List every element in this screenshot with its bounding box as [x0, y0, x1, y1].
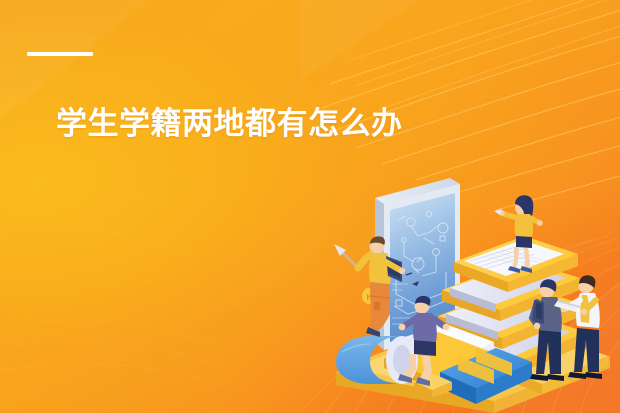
hero-illustration: K: [318, 176, 620, 413]
promo-banner: 学生学籍两地都有怎么办: [0, 0, 620, 413]
page-title: 学生学籍两地都有怎么办: [56, 104, 403, 144]
title-accent-rule: [27, 52, 93, 56]
